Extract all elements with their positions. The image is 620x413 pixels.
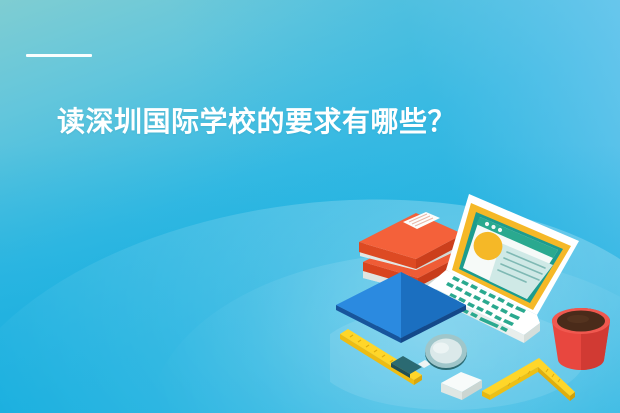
banner-card: 读深圳国际学校的要求有哪些？	[0, 0, 620, 413]
study-desk-illustration	[330, 186, 620, 413]
accent-divider	[26, 54, 92, 57]
page-title: 读深圳国际学校的要求有哪些？	[57, 104, 456, 140]
coffee-mug-icon	[552, 308, 610, 370]
